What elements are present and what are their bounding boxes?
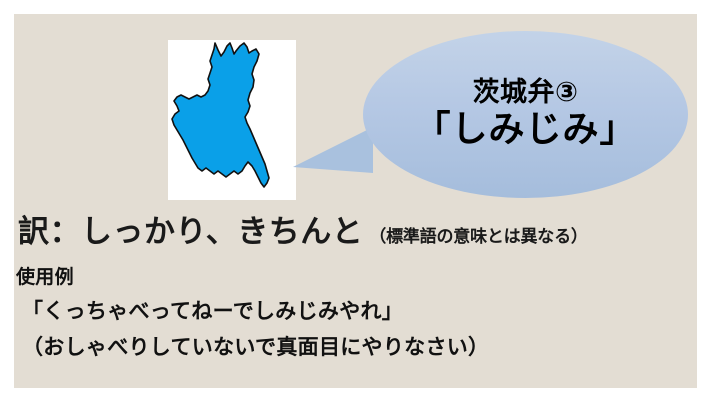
usage-heading: 使用例 (16, 262, 676, 289)
balloon-title-line: 茨城弁③ (473, 78, 579, 108)
slide-canvas: 茨城弁③ 「しみじみ」 訳：しっかり、きちんと （標準語の意味とは異なる） 使用… (0, 0, 711, 400)
usage-example-standard: （おしゃべりしていないで真面目にやりなさい） (22, 331, 676, 361)
ibaraki-prefecture-map-icon (168, 40, 296, 200)
speech-balloon-tail (293, 127, 373, 173)
translation-note-text: （標準語の意味とは異なる） (369, 222, 587, 247)
map-image-plate (168, 40, 296, 200)
usage-block: 使用例 「くっちゃべってねーでしみじみやれ」 （おしゃべりしていないで真面目にや… (16, 262, 676, 361)
balloon-phrase-line: 「しみじみ」 (414, 110, 636, 150)
usage-example-dialect: 「くっちゃべってねーでしみじみやれ」 (22, 295, 676, 325)
translation-main-text: 訳：しっかり、きちんと (18, 206, 363, 251)
speech-balloon-text: 茨城弁③ 「しみじみ」 (363, 31, 688, 198)
translation-row: 訳：しっかり、きちんと （標準語の意味とは異なる） (18, 206, 711, 251)
speech-balloon: 茨城弁③ 「しみじみ」 (363, 31, 688, 198)
